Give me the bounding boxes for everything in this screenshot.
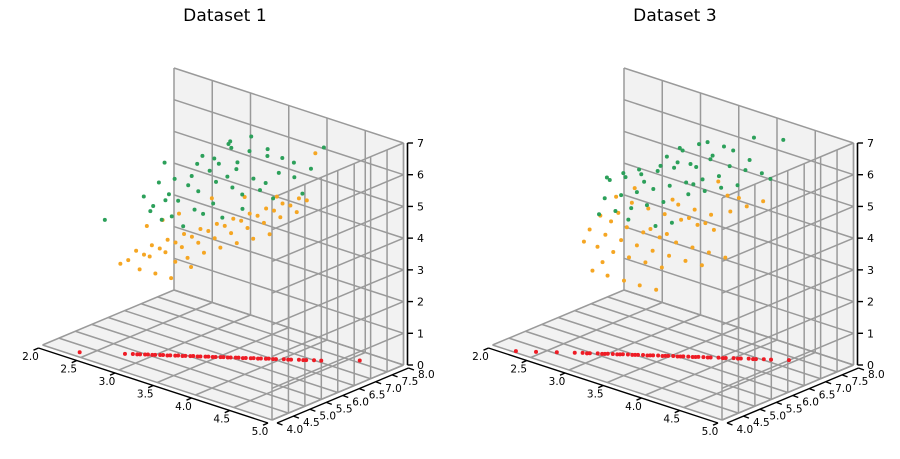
scatter-point	[721, 356, 725, 360]
scatter-point	[691, 355, 695, 359]
scatter-point	[654, 288, 658, 292]
scatter-point	[213, 236, 217, 240]
scatter-point	[661, 200, 665, 204]
scatter-point	[142, 195, 146, 199]
tick-mark-y	[293, 416, 299, 418]
scatter-point	[300, 192, 304, 196]
scatter-point	[196, 189, 200, 193]
scatter-point	[761, 199, 765, 203]
tick-mark-x	[110, 373, 115, 375]
scatter-point	[225, 175, 229, 179]
scatter-point	[748, 158, 752, 162]
tick-label-y: 7.0	[385, 383, 402, 395]
scatter-point	[148, 209, 152, 213]
tick-mark-y	[727, 423, 733, 425]
scatter-point	[262, 221, 266, 225]
scatter-point	[693, 208, 697, 212]
scatter-point	[648, 227, 652, 231]
scatter-point	[769, 358, 773, 362]
tick-label-z: 1	[867, 327, 874, 340]
scatter-point	[217, 162, 221, 166]
scatter-point	[229, 146, 233, 150]
scatter-point	[590, 269, 594, 273]
scatter-point	[621, 352, 625, 356]
scatter-point	[686, 192, 690, 196]
scatter-point	[701, 355, 705, 359]
scatter-point	[271, 357, 275, 361]
tick-mark-x	[34, 348, 39, 350]
tick-label-y: 6.5	[819, 390, 836, 402]
scatter-point	[266, 147, 270, 151]
scatter-point	[203, 355, 207, 359]
scatter-point	[145, 224, 149, 228]
tick-label-y: 7.5	[852, 376, 869, 388]
tick-label-z: 7	[867, 137, 874, 150]
scatter-point	[627, 255, 631, 259]
scatter-point	[292, 175, 296, 179]
scatter-point	[235, 160, 239, 164]
scatter-point	[722, 145, 726, 149]
scatter-point	[736, 183, 740, 187]
scatter-point	[656, 354, 660, 358]
scatter-point	[641, 353, 645, 357]
scatter-point	[605, 176, 609, 180]
tick-mark-x	[484, 348, 489, 350]
scatter-point	[195, 162, 199, 166]
scatter-point	[173, 177, 177, 181]
scatter-point	[708, 157, 712, 161]
tick-mark-y	[760, 409, 766, 411]
scatter-point	[158, 353, 162, 357]
scatter-point	[581, 351, 585, 355]
scatter-point	[706, 140, 710, 144]
scatter-point	[200, 154, 204, 158]
scatter-point	[173, 260, 177, 264]
scatter-point	[229, 231, 233, 235]
tick-mark-x	[225, 411, 230, 413]
scatter-point	[626, 352, 630, 356]
scatter-point	[268, 232, 272, 236]
scatter-point	[585, 351, 589, 355]
scatter-point	[751, 357, 755, 361]
scatter-point	[514, 349, 518, 353]
scatter-point	[271, 196, 275, 200]
tick-mark-x	[675, 411, 680, 413]
tick-mark-y	[277, 423, 283, 425]
scatter-point	[667, 254, 671, 258]
scatter-point	[165, 353, 169, 357]
scatter-point	[689, 162, 693, 166]
scatter-point	[676, 355, 680, 359]
scatter-point	[635, 190, 639, 194]
scatter-point	[138, 267, 142, 271]
tick-mark-y	[343, 396, 349, 398]
scatter-point	[666, 354, 670, 358]
tick-label-x: 5.0	[252, 426, 269, 438]
scatter-point	[600, 352, 604, 356]
scatter-point	[642, 180, 646, 184]
scatter-point	[672, 166, 676, 170]
scatter-point	[280, 156, 284, 160]
scatter-point	[651, 187, 655, 191]
scatter-point	[671, 354, 675, 358]
scatter-point	[142, 253, 146, 257]
scatter-point	[173, 354, 177, 358]
scatter-point	[322, 145, 326, 149]
scatter-point	[235, 241, 239, 245]
scatter-point	[212, 157, 216, 161]
scatter-point	[613, 209, 617, 213]
scatter-point	[239, 219, 243, 223]
scatter-point	[653, 224, 657, 228]
scatter-point	[170, 214, 174, 218]
scatter-point	[264, 207, 268, 211]
tick-mark-x	[713, 423, 718, 425]
scatter-point	[712, 228, 716, 232]
scatter3d-chart-right: 2.02.53.03.54.04.55.04.04.55.05.56.06.57…	[450, 0, 900, 459]
scatter-point	[210, 196, 214, 200]
scatter-point	[752, 136, 756, 140]
tick-mark-x	[598, 386, 603, 388]
scatter-point	[601, 260, 605, 264]
tick-mark-y	[409, 368, 415, 370]
scatter-point	[163, 161, 167, 165]
scatter-point	[625, 225, 629, 229]
tick-mark-x	[148, 386, 153, 388]
scatter-point	[745, 204, 749, 208]
scatter-point	[189, 265, 193, 269]
scatter-point	[202, 251, 206, 255]
plot-panel-dataset-3: Dataset 3 2.02.53.03.54.04.55.04.04.55.0…	[450, 0, 900, 459]
scatter-point	[211, 201, 215, 205]
scatter-point	[190, 174, 194, 178]
tick-label-z: 5	[417, 200, 424, 213]
scatter-point	[728, 164, 732, 168]
scatter-point	[663, 212, 667, 216]
scatter-point	[731, 149, 735, 153]
tick-label-y: 7.5	[402, 376, 419, 388]
scatter-point	[668, 184, 672, 188]
tick-label-y: 6.0	[352, 397, 369, 409]
tick-label-z: 0	[417, 359, 424, 372]
scatter-point	[251, 237, 255, 241]
tick-label-y: 6.0	[802, 397, 819, 409]
scatter-point	[676, 160, 680, 164]
scatter-point	[603, 196, 607, 200]
tick-label-y: 6.5	[369, 390, 386, 402]
scatter-point	[609, 219, 613, 223]
tick-label-x: 4.5	[213, 414, 230, 426]
tick-label-z: 4	[867, 232, 874, 245]
scatter-point	[645, 353, 649, 357]
scatter-point	[656, 169, 660, 173]
scatter-point	[286, 358, 290, 362]
scatter-point	[711, 154, 715, 158]
scatter-point	[743, 168, 747, 172]
scatter-point	[660, 354, 664, 358]
tick-mark-y	[776, 402, 782, 404]
tick-label-y: 5.5	[786, 403, 803, 415]
scatter-point	[190, 235, 194, 239]
tick-label-y: 5.0	[319, 410, 336, 422]
scatter-point	[709, 213, 713, 217]
scatter-point	[211, 355, 215, 359]
scatter-point	[621, 171, 625, 175]
scatter-point	[166, 238, 170, 242]
tick-mark-y	[809, 389, 815, 391]
scatter-point	[635, 243, 639, 247]
scatter-point	[160, 218, 164, 222]
tick-label-z: 3	[867, 264, 874, 277]
scatter-point	[717, 356, 721, 360]
tick-label-x: 3.5	[137, 389, 154, 401]
scatter-point	[787, 358, 791, 362]
scatter-point	[176, 199, 180, 203]
scatter-point	[630, 353, 634, 357]
scatter-point	[247, 149, 251, 153]
scatter-point	[103, 218, 107, 222]
scatter-point	[206, 229, 210, 233]
scatter-point	[297, 196, 301, 200]
tick-label-x: 2.5	[60, 364, 77, 376]
scatter-point	[150, 353, 154, 357]
scatter-point	[319, 359, 323, 363]
scatter-point	[134, 249, 138, 253]
scatter-point	[658, 235, 662, 239]
scatter-point	[555, 350, 559, 354]
scatter-point	[157, 180, 161, 184]
scatter-point	[186, 256, 190, 260]
scatter-point	[611, 352, 615, 356]
scatter-point	[126, 258, 130, 262]
scatter-point	[249, 356, 253, 360]
scatter-point	[762, 357, 766, 361]
scatter-point	[231, 217, 235, 221]
scatter-point	[603, 233, 607, 237]
scatter-point	[248, 212, 252, 216]
tick-mark-x	[522, 361, 527, 363]
scatter-point	[696, 355, 700, 359]
scatter-point	[737, 196, 741, 200]
tick-mark-y	[392, 375, 398, 377]
tick-mark-y	[359, 389, 365, 391]
tick-mark-x	[560, 373, 565, 375]
tick-label-x: 2.5	[510, 364, 527, 376]
plot-panel-dataset-1: Dataset 1 2.02.53.03.54.04.55.04.04.55.0…	[0, 0, 450, 459]
scatter-point	[196, 355, 200, 359]
scatter-point	[651, 353, 655, 357]
scatter-point	[665, 232, 669, 236]
scatter-point	[193, 208, 197, 212]
scatter-point	[611, 250, 615, 254]
scatter-point	[597, 212, 601, 216]
tick-label-z: 5	[867, 200, 874, 213]
scatter-point	[153, 271, 157, 275]
tick-label-x: 3.0	[549, 376, 566, 388]
scatter-point	[725, 194, 729, 198]
scatter-point	[297, 358, 301, 362]
scatter-point	[277, 171, 281, 175]
scatter-point	[256, 357, 260, 361]
scatter-point	[629, 206, 633, 210]
scatter-point	[281, 201, 285, 205]
scatter-point	[633, 186, 637, 190]
scatter-point	[234, 356, 238, 360]
scatter-point	[624, 175, 628, 179]
tick-label-z: 6	[867, 169, 874, 182]
tick-mark-y	[376, 382, 382, 384]
scatter-point	[534, 350, 538, 354]
scatter-point	[180, 245, 184, 249]
scatter-point	[719, 186, 723, 190]
tick-label-y: 7.0	[835, 383, 852, 395]
tick-label-z: 2	[417, 296, 424, 309]
scatter-point	[679, 218, 683, 222]
scatter-point	[230, 186, 234, 190]
scatter-point	[208, 169, 212, 173]
scatter-point	[256, 214, 260, 218]
scatter-point	[732, 356, 736, 360]
scatter-point	[181, 224, 185, 228]
scatter-point	[174, 240, 178, 244]
tick-label-x: 2.0	[472, 351, 489, 363]
tick-label-x: 4.0	[625, 401, 642, 413]
scatter-point	[264, 181, 268, 185]
scatter-point	[643, 260, 647, 264]
tick-mark-y	[310, 409, 316, 411]
scatter-point	[215, 222, 219, 226]
scatter-point	[659, 164, 663, 168]
scatter-point	[728, 209, 732, 213]
scatter-point	[272, 209, 276, 213]
scatter-point	[641, 230, 645, 234]
scatter-point	[716, 180, 720, 184]
scatter-point	[131, 352, 135, 356]
scatter-point	[295, 210, 299, 214]
scatter-point	[582, 240, 586, 244]
scatter-point	[123, 352, 127, 356]
scatter-point	[690, 246, 694, 250]
scatter-point	[703, 189, 707, 193]
tick-label-z: 3	[417, 264, 424, 277]
scatter-point	[181, 354, 185, 358]
tick-label-z: 7	[417, 137, 424, 150]
scatter-point	[700, 263, 704, 267]
scatter-point	[687, 216, 691, 220]
scatter-point	[768, 177, 772, 181]
scatter-point	[747, 357, 751, 361]
scatter-point	[596, 351, 600, 355]
tick-label-y: 4.5	[753, 417, 770, 429]
scatter-point	[167, 192, 171, 196]
scatter-point	[723, 256, 727, 260]
scatter-point	[760, 171, 764, 175]
scatter-point	[246, 226, 250, 230]
figure-canvas: Dataset 1 2.02.53.03.54.04.55.04.04.55.0…	[0, 0, 900, 459]
scatter-point	[169, 276, 173, 280]
scatter-point	[686, 355, 690, 359]
scatter-point	[684, 181, 688, 185]
scatter-point	[619, 238, 623, 242]
tick-label-z: 4	[417, 232, 424, 245]
scatter-point	[282, 357, 286, 361]
scatter-point	[736, 357, 740, 361]
tick-mark-x	[187, 398, 192, 400]
scatter-point	[683, 259, 687, 263]
scatter-point	[636, 353, 640, 357]
scatter-point	[637, 168, 641, 172]
scatter-point	[639, 172, 643, 176]
scatter-point	[678, 146, 682, 150]
scatter-point	[201, 212, 205, 216]
scatter-point	[218, 246, 222, 250]
tick-mark-y	[793, 396, 799, 398]
scatter-point	[694, 165, 698, 169]
tick-label-z: 2	[867, 296, 874, 309]
scatter-point	[143, 353, 147, 357]
scatter-point	[651, 249, 655, 253]
scatter-point	[638, 283, 642, 287]
scatter-point	[214, 180, 218, 184]
scatter-point	[606, 352, 610, 356]
scatter-point	[158, 247, 162, 251]
scatter-point	[614, 195, 618, 199]
scatter-point	[706, 356, 710, 360]
scatter-point	[312, 358, 316, 362]
scatter-point	[151, 204, 155, 208]
scatter-point	[223, 224, 227, 228]
tick-label-x: 3.0	[99, 376, 116, 388]
scatter-point	[241, 356, 245, 360]
scatter3d-chart-left: 2.02.53.03.54.04.55.04.04.55.05.56.06.57…	[0, 0, 450, 459]
scatter-point	[697, 142, 701, 146]
scatter-point	[703, 221, 707, 225]
scatter-point	[278, 215, 282, 219]
scatter-point	[150, 243, 154, 247]
scatter-point	[358, 359, 362, 363]
scatter-point	[781, 138, 785, 142]
scatter-point	[198, 227, 202, 231]
scatter-point	[301, 358, 305, 362]
scatter-point	[240, 207, 244, 211]
scatter-point	[619, 193, 623, 197]
tick-mark-y	[326, 402, 332, 404]
scatter-point	[148, 254, 152, 258]
scatter-point	[220, 216, 224, 220]
scatter-point	[691, 182, 695, 186]
scatter-point	[234, 167, 238, 171]
scatter-point	[660, 265, 664, 269]
scatter-point	[696, 223, 700, 227]
scatter-point	[676, 203, 680, 207]
scatter-point	[305, 198, 309, 202]
scatter-point	[606, 274, 610, 278]
scatter-point	[573, 351, 577, 355]
tick-label-z: 1	[417, 327, 424, 340]
tick-label-x: 4.0	[175, 401, 192, 413]
scatter-point	[188, 354, 192, 358]
tick-mark-x	[263, 423, 268, 425]
scatter-point	[177, 212, 181, 216]
scatter-point	[288, 203, 292, 207]
scatter-point	[275, 195, 279, 199]
scatter-point	[258, 188, 262, 192]
tick-label-x: 5.0	[702, 426, 719, 438]
scatter-point	[163, 198, 167, 202]
tick-label-z: 0	[867, 359, 874, 372]
tick-mark-y	[842, 375, 848, 377]
scatter-point	[240, 192, 244, 196]
